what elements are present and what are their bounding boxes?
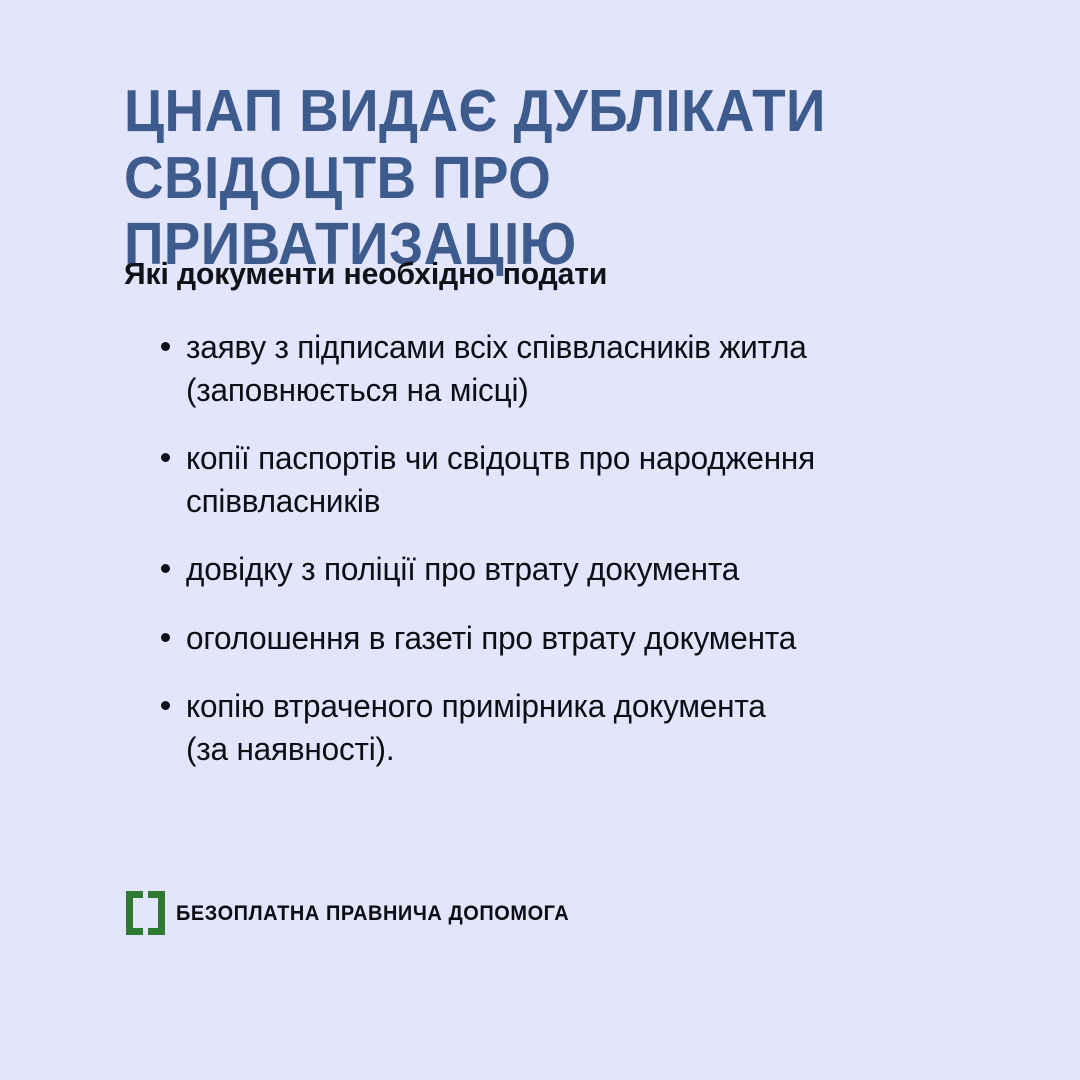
brand-logo-label: Безоплатна правнича допомога bbox=[176, 903, 569, 924]
bullet-icon bbox=[161, 701, 170, 710]
list-item-label: оголошення в газеті про втрату документа bbox=[186, 617, 958, 660]
title-block: ЦНАП ВИДАЄ ДУБЛІКАТИ СВІДОЦТВ ПРО ПРИВАТ… bbox=[124, 78, 1004, 278]
list-item: оголошення в газеті про втрату документа bbox=[158, 617, 970, 660]
bracket-left-icon bbox=[126, 891, 143, 935]
bullet-icon bbox=[161, 342, 170, 351]
list-item: заяву з підписами всіх співвласників жит… bbox=[158, 326, 970, 411]
bullet-icon bbox=[161, 453, 170, 462]
list-item: довідку з поліції про втрату документа bbox=[158, 548, 970, 591]
list-item-label: копію втраченого примірника документа (з… bbox=[186, 685, 958, 770]
bullet-icon bbox=[161, 633, 170, 642]
list-item: копії паспортів чи свідоцтв про народжен… bbox=[158, 437, 970, 522]
bracket-right-icon bbox=[148, 891, 165, 935]
bullet-icon bbox=[161, 564, 170, 573]
list-item-label: заяву з підписами всіх співвласників жит… bbox=[186, 326, 958, 411]
square-brackets-icon bbox=[126, 891, 165, 935]
brand-logo: Безоплатна правнича допомога bbox=[126, 891, 590, 935]
documents-list: заяву з підписами всіх співвласників жит… bbox=[158, 326, 970, 770]
section-subtitle: Які документи необхідно подати bbox=[124, 255, 607, 292]
list-item-label: довідку з поліції про втрату документа bbox=[186, 548, 958, 591]
list-item: копію втраченого примірника документа (з… bbox=[158, 685, 970, 770]
page-title: ЦНАП ВИДАЄ ДУБЛІКАТИ СВІДОЦТВ ПРО ПРИВАТ… bbox=[124, 78, 942, 278]
list-item-label: копії паспортів чи свідоцтв про народжен… bbox=[186, 437, 958, 522]
poster-canvas: ЦНАП ВИДАЄ ДУБЛІКАТИ СВІДОЦТВ ПРО ПРИВАТ… bbox=[0, 0, 1080, 1080]
